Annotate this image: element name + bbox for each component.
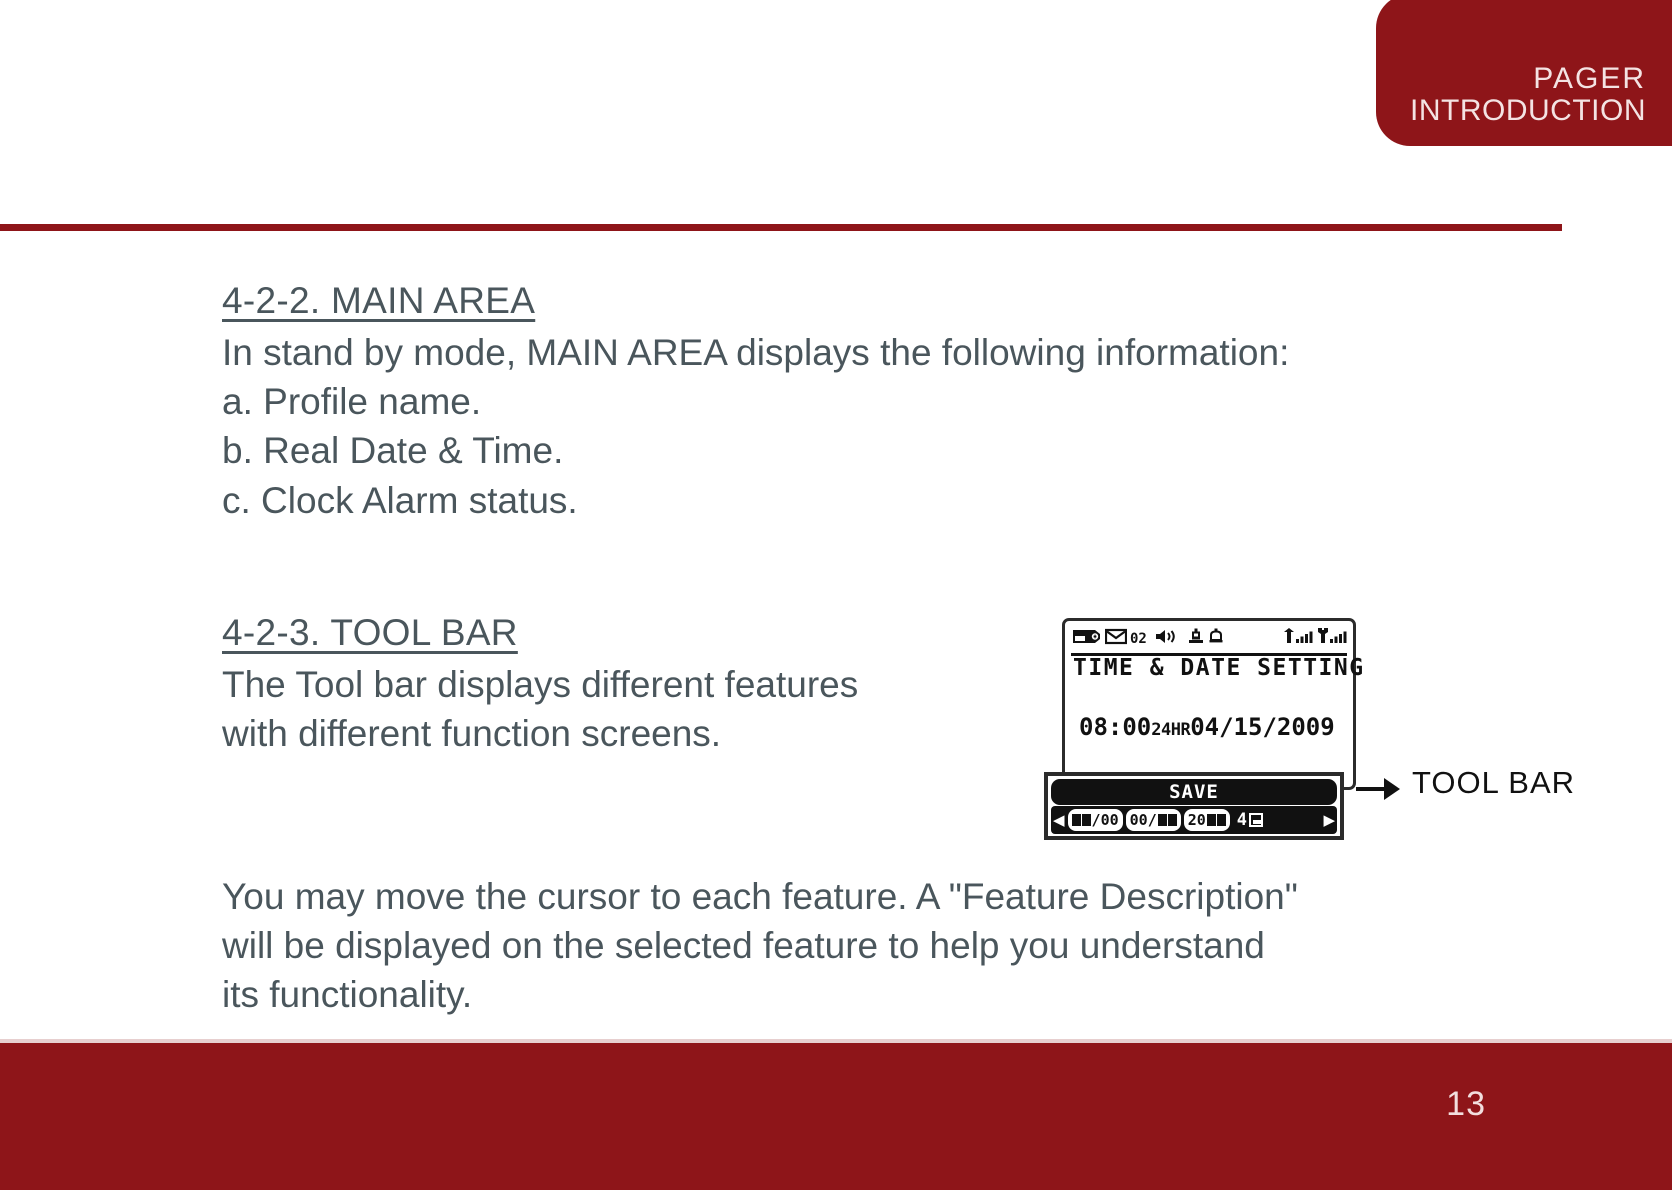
closing-paragraph-line2: will be displayed on the selected featur… bbox=[222, 921, 1512, 970]
closing-paragraph-line1: You may move the cursor to each feature.… bbox=[222, 872, 1512, 921]
vibrate-icon bbox=[1188, 628, 1204, 650]
tool-bar-right-arrow-icon[interactable]: ▶ bbox=[1323, 813, 1335, 828]
footer-bar bbox=[0, 1043, 1672, 1190]
pager-tool-bar[interactable]: SAVE ◀ /00 00/ 20 4 ▶ bbox=[1044, 772, 1344, 840]
block-glyph-icon bbox=[1217, 814, 1226, 826]
chip-text: 20 bbox=[1188, 811, 1206, 829]
signal-antenna-icon bbox=[1283, 628, 1313, 650]
header-tab: PAGER INTRODUCTION bbox=[1376, 0, 1672, 146]
pager-screen-figure: 02 bbox=[1044, 618, 1356, 840]
message-count: 02 bbox=[1130, 632, 1147, 646]
pager-status-bar: 02 bbox=[1073, 626, 1347, 652]
section-main-area-intro: In stand by mode, MAIN AREA displays the… bbox=[222, 328, 1522, 377]
tool-bar-icon-row[interactable]: ◀ /00 00/ 20 4 ▶ bbox=[1051, 806, 1337, 834]
callout-leader-line bbox=[1356, 787, 1386, 791]
list-item: b. Real Date & Time. bbox=[222, 426, 1522, 475]
section-tool-bar-line2: with different function screens. bbox=[222, 709, 1012, 758]
right-arrow-icon bbox=[1384, 778, 1400, 800]
block-glyph-icon bbox=[1207, 814, 1216, 826]
pager-lcd-main-area: 02 bbox=[1062, 618, 1356, 790]
header-tab-text: PAGER INTRODUCTION bbox=[1410, 64, 1646, 126]
lcd-date-value: 04/15/2009 bbox=[1190, 713, 1335, 741]
floppy-disk-icon bbox=[1249, 813, 1263, 827]
speaker-icon bbox=[1155, 628, 1177, 650]
chip-text: 4 bbox=[1237, 810, 1247, 830]
signal-reception-icon bbox=[1317, 628, 1347, 650]
block-glyph-icon bbox=[1072, 814, 1081, 826]
tool-bar-left-arrow-icon[interactable]: ◀ bbox=[1053, 813, 1065, 828]
tool-bar-chip-year[interactable]: 20 bbox=[1184, 809, 1230, 831]
list-item: c. Clock Alarm status. bbox=[222, 476, 1522, 525]
lcd-screen-title: TIME & DATE SETTING bbox=[1073, 655, 1365, 681]
lcd-time-value: 08:00 bbox=[1079, 713, 1151, 741]
tool-bar-chip-save[interactable]: 4 bbox=[1237, 810, 1263, 830]
block-glyph-icon bbox=[1158, 814, 1167, 826]
section-tool-bar: 4-2-3. TOOL BAR The Tool bar displays di… bbox=[222, 612, 1012, 758]
tool-bar-chip-hour[interactable]: /00 bbox=[1068, 809, 1123, 831]
callout-label: TOOL BAR bbox=[1412, 765, 1575, 801]
closing-paragraph: You may move the cursor to each feature.… bbox=[222, 872, 1512, 1020]
section-main-area-title: 4-2-2. MAIN AREA bbox=[222, 280, 1522, 322]
lcd-date-time-row: 08:0024HR04/15/2009 bbox=[1079, 713, 1335, 741]
page-number: 13 bbox=[1446, 1085, 1486, 1124]
tool-bar-chip-minute[interactable]: 00/ bbox=[1126, 809, 1181, 831]
chip-text: /00 bbox=[1092, 811, 1119, 829]
lcd-time-format: 24HR bbox=[1151, 720, 1190, 740]
list-item: a. Profile name. bbox=[222, 377, 1522, 426]
block-glyph-icon bbox=[1168, 814, 1177, 826]
bell-icon bbox=[1208, 628, 1224, 650]
section-tool-bar-title: 4-2-3. TOOL BAR bbox=[222, 612, 1012, 654]
page-root: PAGER INTRODUCTION 4-2-2. MAIN AREA In s… bbox=[0, 0, 1672, 1190]
block-glyph-icon bbox=[1082, 814, 1091, 826]
chip-text: 00/ bbox=[1130, 811, 1157, 829]
header-title-primary: PAGER bbox=[1410, 64, 1646, 94]
header-title-secondary: INTRODUCTION bbox=[1410, 96, 1646, 126]
tool-bar-selected-label: SAVE bbox=[1051, 779, 1337, 805]
header-divider-rule bbox=[0, 224, 1562, 231]
section-tool-bar-line1: The Tool bar displays different features bbox=[222, 660, 1012, 709]
closing-paragraph-line3: its functionality. bbox=[222, 970, 1512, 1019]
section-main-area: 4-2-2. MAIN AREA In stand by mode, MAIN … bbox=[222, 280, 1522, 525]
envelope-icon bbox=[1105, 628, 1127, 650]
signal-indicators bbox=[1283, 628, 1347, 650]
battery-icon bbox=[1073, 628, 1101, 650]
